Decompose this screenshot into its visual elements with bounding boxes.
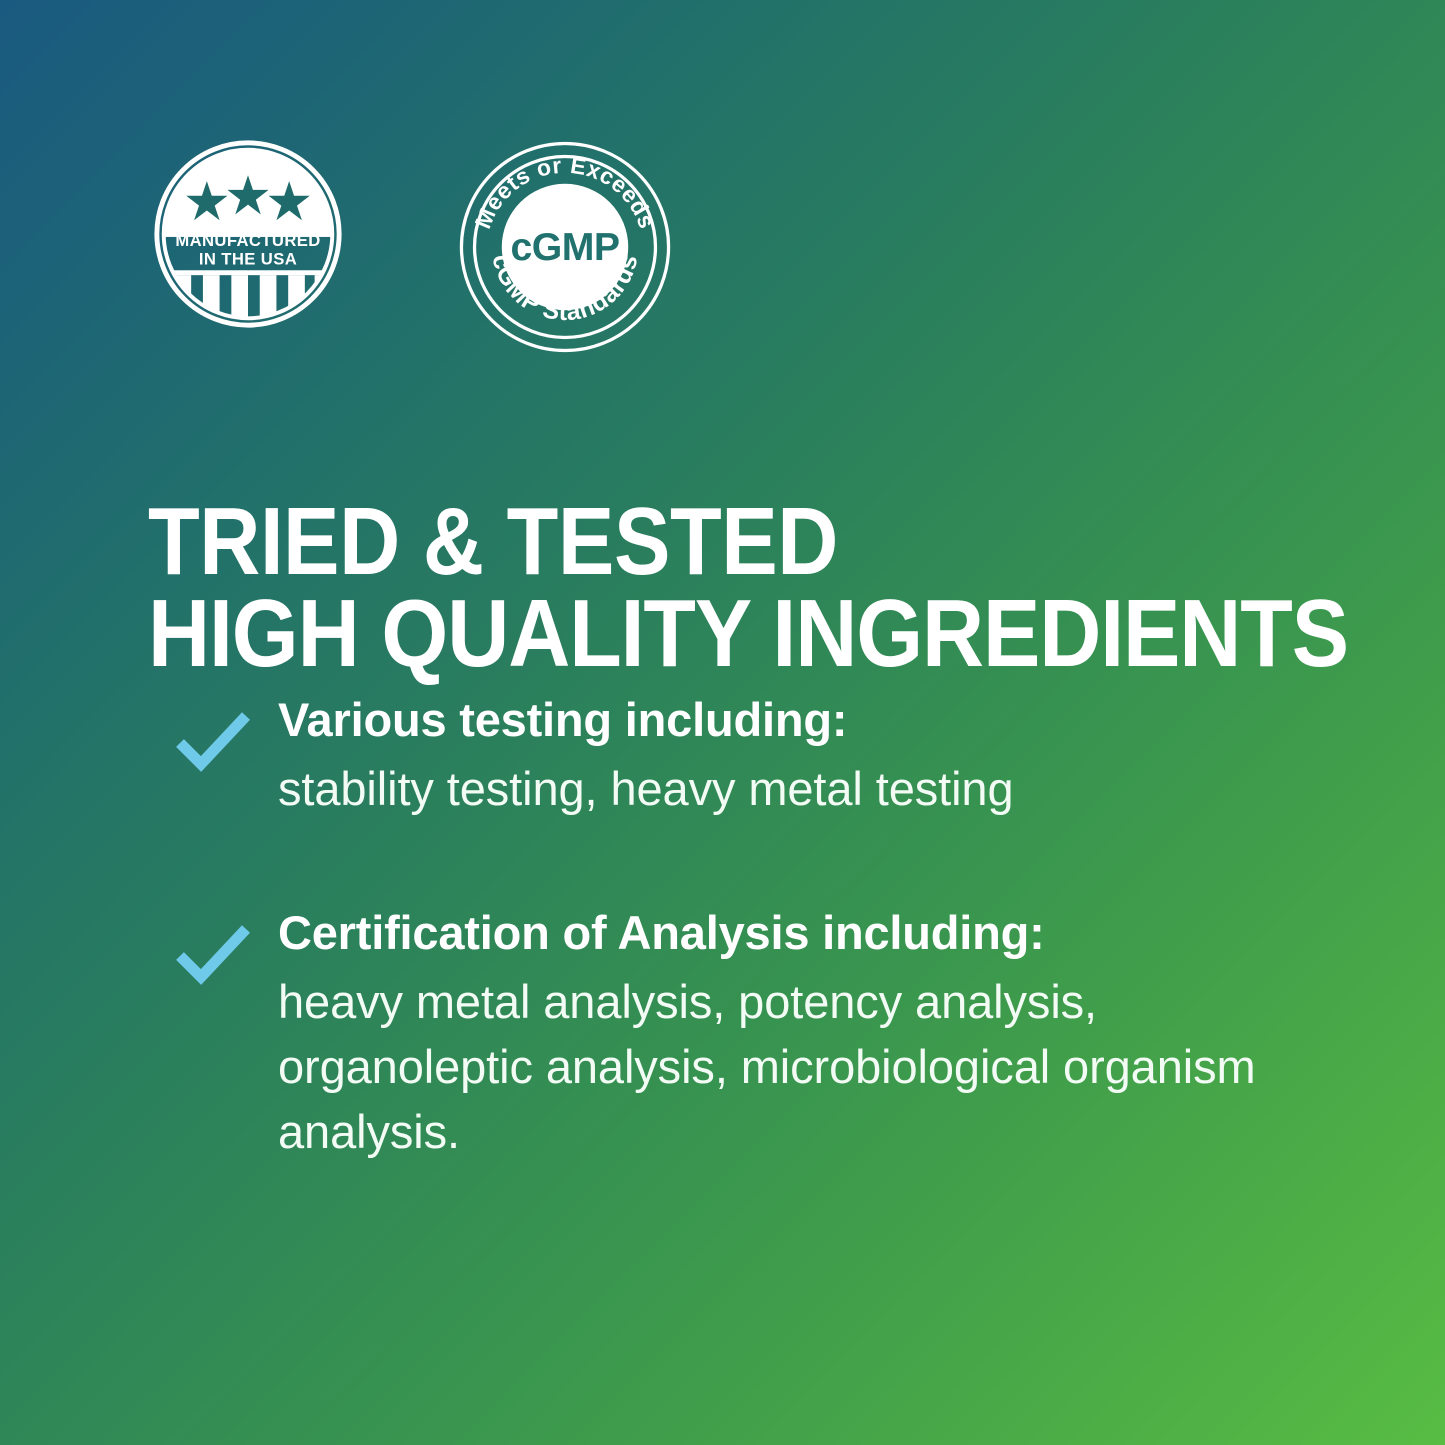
page-title: TRIED & TESTED HIGH QUALITY INGREDIENTS [148, 496, 1445, 680]
list-item-body: heavy metal analysis, potency analysis, … [278, 970, 1278, 1165]
list-item-text: Certification of Analysis including: hea… [250, 907, 1296, 1164]
list-item-text: Various testing including: stability tes… [250, 694, 1296, 821]
badge-cgmp: Meets or Exceeds cGMP Standards cGMP [456, 138, 674, 356]
badge-cgmp-center: cGMP [510, 225, 619, 269]
list-item-body: stability testing, heavy metal testing [278, 757, 1278, 822]
cgmp-seal-icon: Meets or Exceeds cGMP Standards cGMP [456, 138, 674, 356]
list-item-title: Various testing including: [278, 694, 1296, 747]
checkmark-icon [176, 710, 250, 774]
headline-line-1: TRIED & TESTED [148, 496, 1330, 588]
badge-manufactured-in-usa: MANUFACTURED IN THE USA [150, 136, 346, 332]
list-item-title: Certification of Analysis including: [278, 907, 1296, 960]
certification-badge-row: MANUFACTURED IN THE USA Meets or Exceeds [150, 136, 674, 356]
badge-usa-line2: IN THE USA [199, 249, 297, 268]
list-item: Various testing including: stability tes… [176, 694, 1296, 821]
usa-flag-seal-icon: MANUFACTURED IN THE USA [150, 136, 346, 332]
feature-list: Various testing including: stability tes… [176, 694, 1296, 1165]
checkmark-icon [176, 923, 250, 987]
headline-line-2: HIGH QUALITY INGREDIENTS [148, 588, 1348, 680]
promo-poster: MANUFACTURED IN THE USA Meets or Exceeds [0, 0, 1445, 1445]
badge-usa-line1: MANUFACTURED [175, 231, 320, 250]
list-item: Certification of Analysis including: hea… [176, 907, 1296, 1164]
